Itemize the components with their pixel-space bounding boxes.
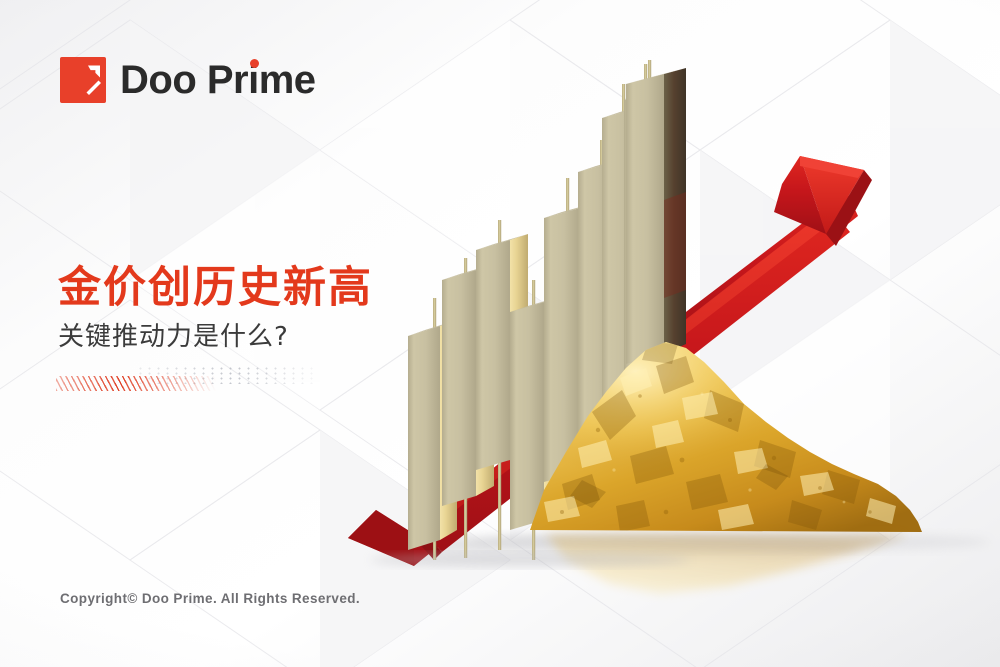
decorative-divider bbox=[56, 366, 316, 392]
doo-prime-mark-icon bbox=[60, 57, 106, 103]
copyright-notice: Copyright© Doo Prime. All Rights Reserve… bbox=[60, 591, 360, 606]
page-title: 金价创历史新高 bbox=[58, 266, 373, 311]
brand-logo[interactable]: Doo Prime bbox=[60, 57, 316, 103]
divider-hatch-stripes bbox=[56, 376, 216, 391]
gold-chart-illustration bbox=[330, 60, 1000, 620]
poster-canvas: Doo Prime 金价创历史新高 关键推动力是什么? Copyright© D… bbox=[0, 0, 1000, 667]
candle-shadow bbox=[370, 553, 690, 567]
brand-name-text: Doo Prime bbox=[120, 58, 316, 102]
logo-accent-dot bbox=[250, 59, 259, 68]
page-subtitle: 关键推动力是什么? bbox=[58, 323, 289, 352]
brand-name: Doo Prime bbox=[120, 60, 316, 100]
